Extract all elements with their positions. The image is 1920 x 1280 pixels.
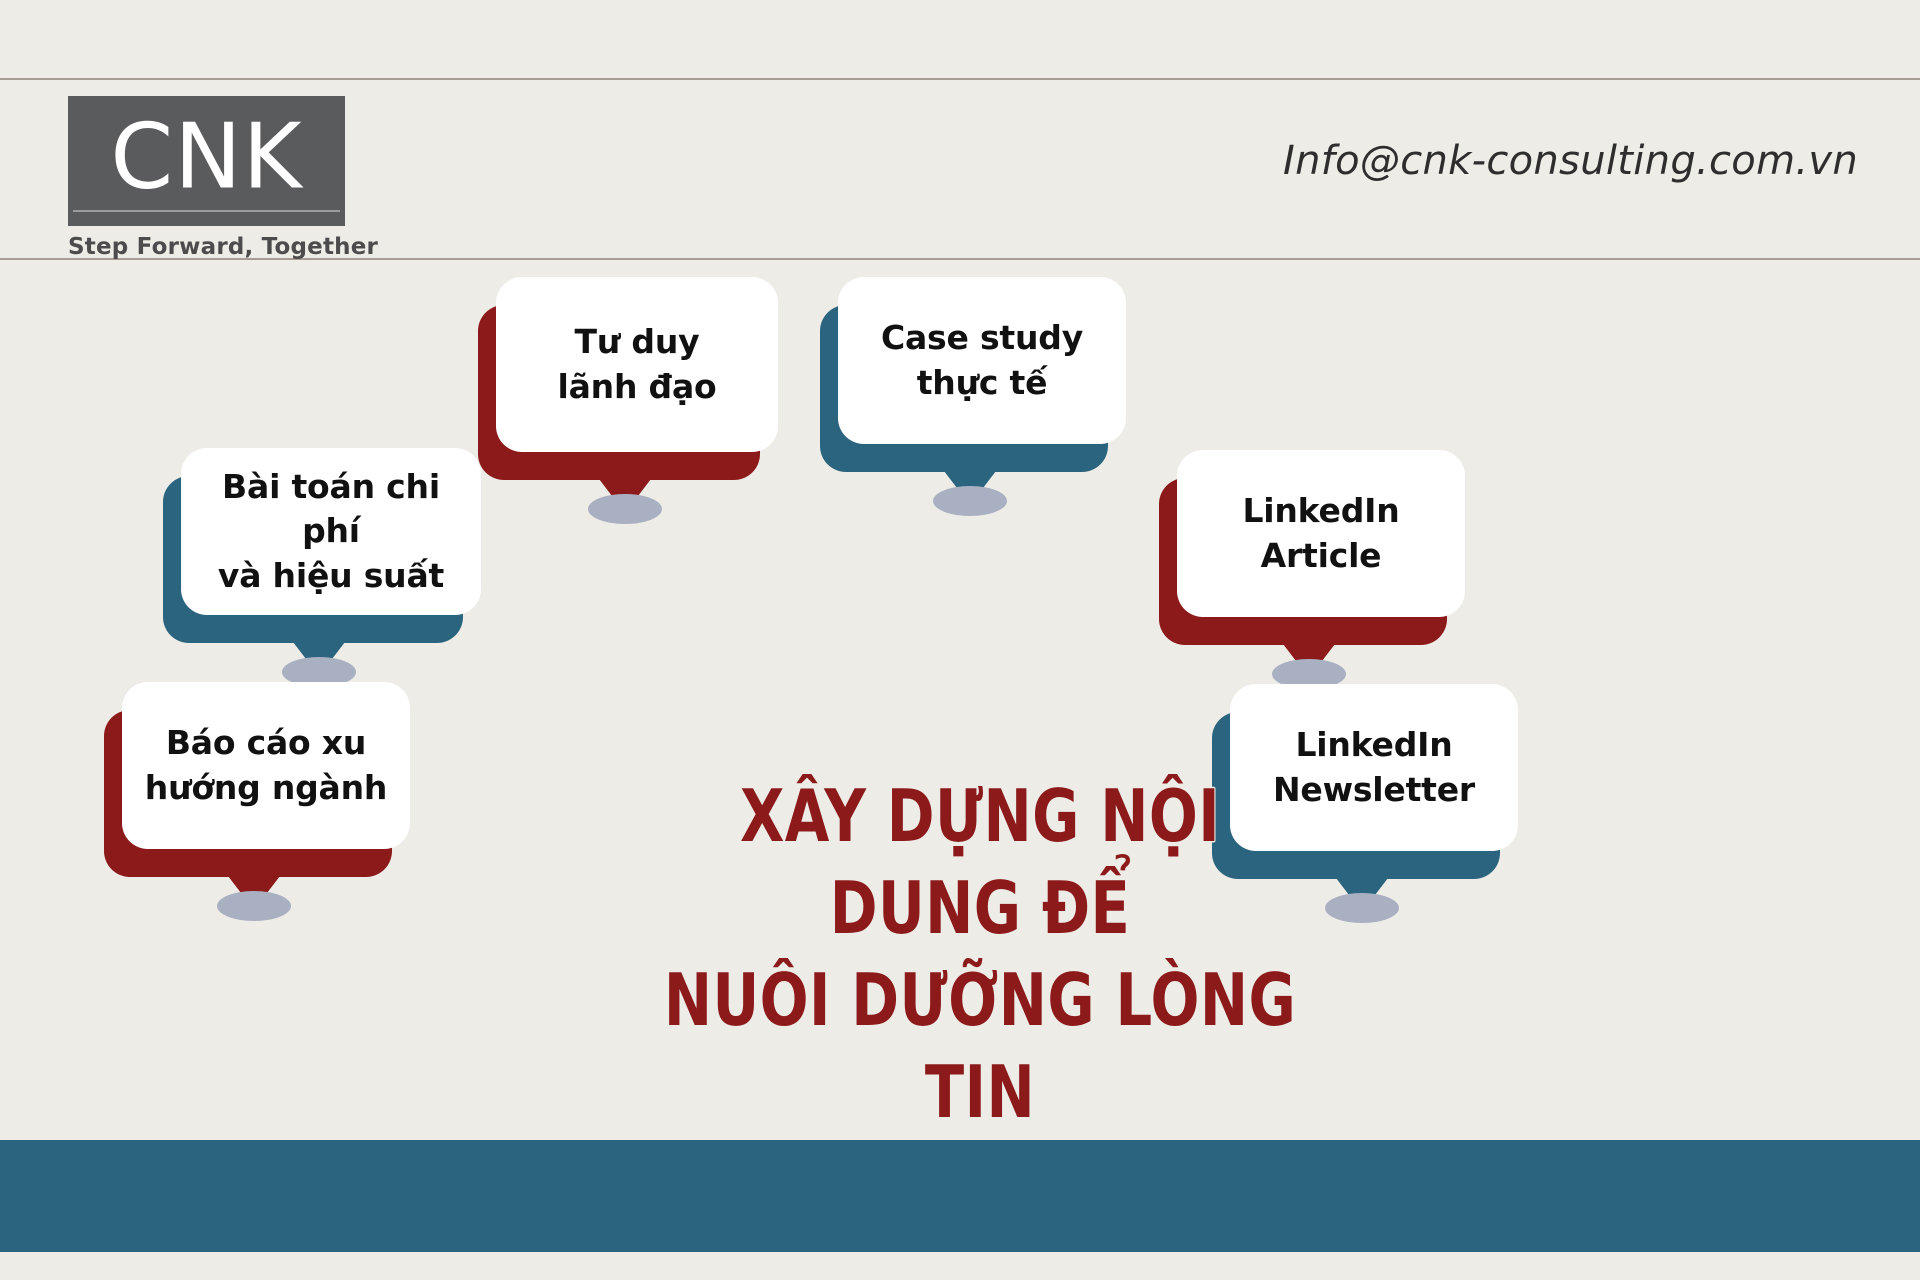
bubble-card-bao-cao-xu-huong-nganh[interactable]: Báo cáo xu hướng ngành: [104, 682, 410, 927]
bubble-label: LinkedIn Article: [1242, 489, 1399, 577]
bubble-label: Bài toán chi phí và hiệu suất: [195, 465, 467, 598]
bubble-ground-shadow: [1325, 893, 1399, 923]
bubble-panel[interactable]: Tư duy lãnh đạo: [496, 277, 778, 452]
bubble-panel[interactable]: LinkedIn Article: [1177, 450, 1465, 617]
bubble-label: Báo cáo xu hướng ngành: [145, 721, 387, 809]
bubble-panel[interactable]: Case study thực tế: [838, 277, 1126, 444]
logo-tagline: Step Forward, Together: [68, 234, 358, 260]
bubble-label: Case study thực tế: [881, 316, 1083, 404]
bubble-panel[interactable]: Báo cáo xu hướng ngành: [122, 682, 410, 849]
header-divider-top: [0, 78, 1920, 80]
bubble-card-tu-duy-lanh-dao[interactable]: Tư duy lãnh đạo: [478, 277, 778, 530]
bubble-ground-shadow: [588, 494, 662, 524]
contact-email[interactable]: Info@cnk-consulting.com.vn: [1283, 138, 1858, 184]
logo-underline: [73, 210, 340, 212]
bubble-card-linkedin-article[interactable]: LinkedIn Article: [1159, 450, 1465, 695]
bubble-card-case-study-thuc-te[interactable]: Case study thực tế: [820, 277, 1126, 522]
slide-canvas: CNK Step Forward, Together Info@cnk-cons…: [0, 0, 1920, 1280]
brand-logo: CNK Step Forward, Together: [68, 96, 358, 260]
bubble-ground-shadow: [217, 891, 291, 921]
bubble-panel[interactable]: Bài toán chi phí và hiệu suất: [181, 448, 481, 615]
footer-accent-bar: [0, 1140, 1920, 1252]
logo-wordmark: CNK: [68, 112, 345, 202]
bubble-ground-shadow: [933, 486, 1007, 516]
page-title: XÂY DỰNG NỘI DUNG ĐỂ NUÔI DƯỠNG LÒNG TIN: [652, 770, 1308, 1139]
bubble-card-bai-toan-chi-phi[interactable]: Bài toán chi phí và hiệu suất: [163, 448, 481, 693]
logo-mark: CNK: [68, 96, 345, 226]
bubble-label: Tư duy lãnh đạo: [557, 320, 716, 408]
